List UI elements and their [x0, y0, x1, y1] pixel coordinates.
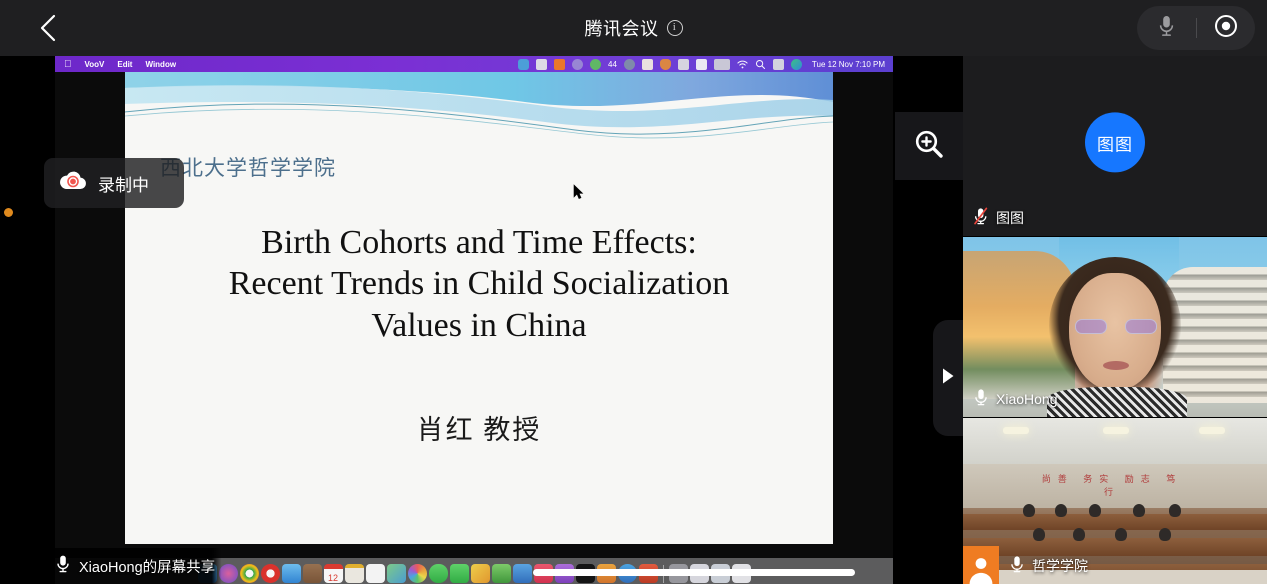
- participant-tile[interactable]: XiaoHong: [963, 237, 1267, 417]
- menubar-left-items:  VooV Edit Window: [55, 59, 176, 70]
- slide-author: 肖红 教授: [125, 408, 833, 447]
- mic-toggle-button[interactable]: [1137, 6, 1196, 50]
- page-title: 腾讯会议 i: [0, 0, 1267, 56]
- record-camera-icon: [1214, 14, 1238, 43]
- shield-icon[interactable]: [660, 59, 671, 70]
- onedrive-icon[interactable]: [536, 59, 547, 70]
- record-toggle-button[interactable]: [1197, 6, 1256, 50]
- menubar-clock[interactable]: Tue 12 Nov 7:10 PM: [809, 60, 885, 69]
- control-center-icon[interactable]: [773, 59, 784, 70]
- info-icon[interactable]: i: [667, 20, 683, 36]
- menu-item-voov[interactable]: VooV: [85, 60, 105, 69]
- wechat-icon[interactable]: [590, 59, 601, 70]
- wifi-icon[interactable]: [737, 59, 748, 70]
- dropbox-icon[interactable]: [518, 59, 529, 70]
- participant-label: 哲学学院: [1009, 555, 1088, 576]
- slide-wave-decoration: [125, 72, 833, 152]
- display-icon[interactable]: [678, 59, 689, 70]
- participant-tile[interactable]: 图图 图图: [963, 56, 1267, 236]
- slide-organization: 西北大学哲学学院: [160, 152, 336, 182]
- shared-screen-stage[interactable]:  VooV Edit Window 44: [0, 56, 963, 584]
- siri-icon[interactable]: [791, 59, 802, 70]
- participant-label: XiaoHong: [973, 388, 1058, 409]
- slide-title-line-2: Recent Trends in Child Socialization: [139, 263, 819, 304]
- menubar-status-items: 44 Tue 12 Nov 7:10 PM: [518, 59, 893, 70]
- zoom-in-icon: [912, 127, 946, 166]
- participant-label: 图图: [973, 207, 1024, 228]
- app-header: 腾讯会议 i: [0, 0, 1267, 56]
- apple-logo-icon[interactable]: : [64, 59, 72, 70]
- cloud-record-icon: [58, 170, 88, 197]
- mouse-cursor-icon: [573, 184, 584, 205]
- presentation-slide: 西北大学哲学学院 Birth Cohorts and Time Effects:…: [125, 72, 833, 544]
- screen-share-bar: XiaoHong的屏幕共享: [0, 548, 963, 584]
- microphone-icon: [1009, 555, 1025, 576]
- zoom-in-button[interactable]: [895, 112, 963, 180]
- screen-share-label: XiaoHong的屏幕共享: [79, 556, 215, 577]
- header-controls: [1137, 6, 1255, 50]
- spotlight-search-icon[interactable]: [755, 59, 766, 70]
- slide-title-line-3: Values in China: [139, 305, 819, 346]
- at-icon[interactable]: [572, 59, 583, 70]
- participant-name: XiaoHong: [996, 391, 1058, 407]
- shortcuts-icon[interactable]: [554, 59, 565, 70]
- recording-label: 录制中: [98, 171, 149, 196]
- mac-menubar:  VooV Edit Window 44: [55, 56, 893, 72]
- microphone-icon: [973, 388, 989, 409]
- recording-badge[interactable]: 录制中: [44, 158, 184, 208]
- microphone-muted-icon: [973, 207, 989, 228]
- app-title-text: 腾讯会议: [585, 15, 659, 41]
- slide-title-line-1: Birth Cohorts and Time Effects:: [139, 222, 819, 263]
- participant-name: 图图: [996, 208, 1024, 228]
- panel-expand-handle[interactable]: [933, 320, 963, 436]
- battery-icon[interactable]: [714, 59, 730, 70]
- input-a-icon[interactable]: [696, 59, 707, 70]
- menu-item-window[interactable]: Window: [145, 60, 176, 69]
- menu-item-edit[interactable]: Edit: [117, 60, 132, 69]
- participant-tile[interactable]: 尚善 务实 励志 笃行: [963, 418, 1267, 584]
- play-triangle-icon: [941, 367, 955, 390]
- status-indicator-dot: [4, 208, 13, 217]
- participant-name: 哲学学院: [1032, 556, 1088, 576]
- slide-title: Birth Cohorts and Time Effects: Recent T…: [125, 222, 833, 346]
- room-banner-text: 尚善 务实 励志 笃行: [1037, 472, 1187, 485]
- globe-icon[interactable]: [624, 59, 635, 70]
- avatar: 图图: [1085, 112, 1145, 172]
- binoculars-icon[interactable]: [642, 59, 653, 70]
- participant-rail: 图图 图图: [963, 56, 1267, 584]
- shared-desktop:  VooV Edit Window 44: [55, 56, 893, 584]
- badge-count: 44: [608, 60, 617, 69]
- microphone-icon: [56, 554, 70, 579]
- microphone-icon: [1158, 14, 1175, 43]
- person-avatar-icon: [963, 546, 999, 584]
